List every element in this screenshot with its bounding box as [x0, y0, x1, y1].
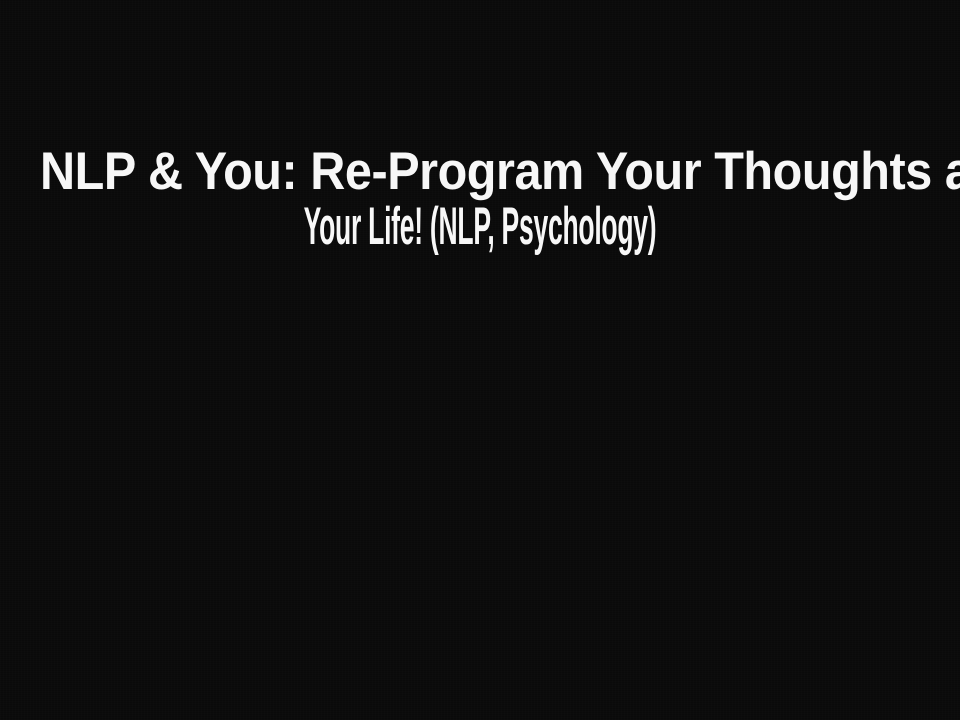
book-title-line-1: NLP & You: Re-Program Your Thoughts and …: [40, 144, 920, 199]
book-title-line-2: Your Life! (NLP, Psychology): [240, 199, 720, 254]
book-title-block: NLP & You: Re-Program Your Thoughts and …: [0, 144, 960, 254]
background-noise-texture: [0, 0, 960, 720]
title-card-canvas: NLP & You: Re-Program Your Thoughts and …: [0, 0, 960, 720]
